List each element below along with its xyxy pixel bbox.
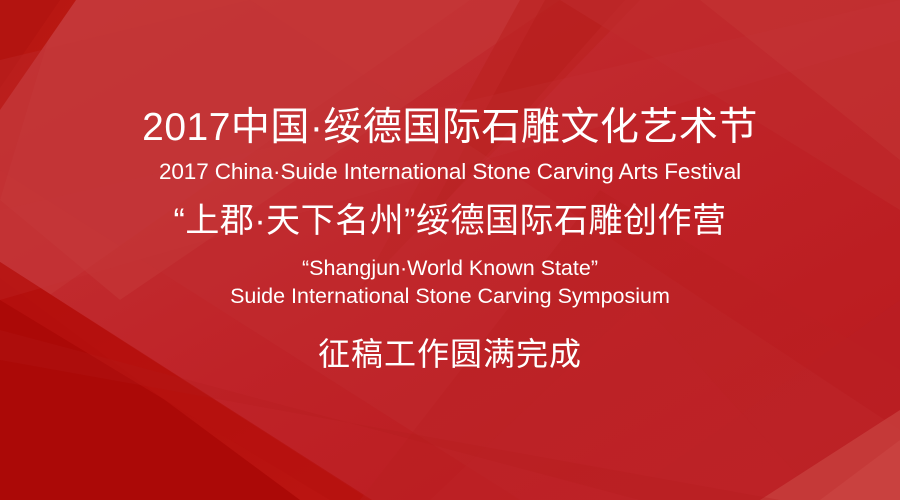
festival-title-english: 2017 China·Suide International Stone Car… bbox=[0, 161, 900, 184]
submission-status-chinese: 征稿工作圆满完成 bbox=[0, 338, 900, 370]
symposium-subtitle-english-line1: “Shangjun·World Known State” bbox=[0, 258, 900, 280]
symposium-subtitle-english-line2: Suide International Stone Carving Sympos… bbox=[0, 286, 900, 308]
symposium-subtitle-chinese: “上郡·天下名州”绥德国际石雕创作营 bbox=[0, 204, 900, 238]
festival-banner: 2017中国·绥德国际石雕文化艺术节 2017 China·Suide Inte… bbox=[0, 0, 900, 500]
festival-title-chinese: 2017中国·绥德国际石雕文化艺术节 bbox=[0, 108, 900, 147]
banner-content: 2017中国·绥德国际石雕文化艺术节 2017 China·Suide Inte… bbox=[0, 0, 900, 500]
